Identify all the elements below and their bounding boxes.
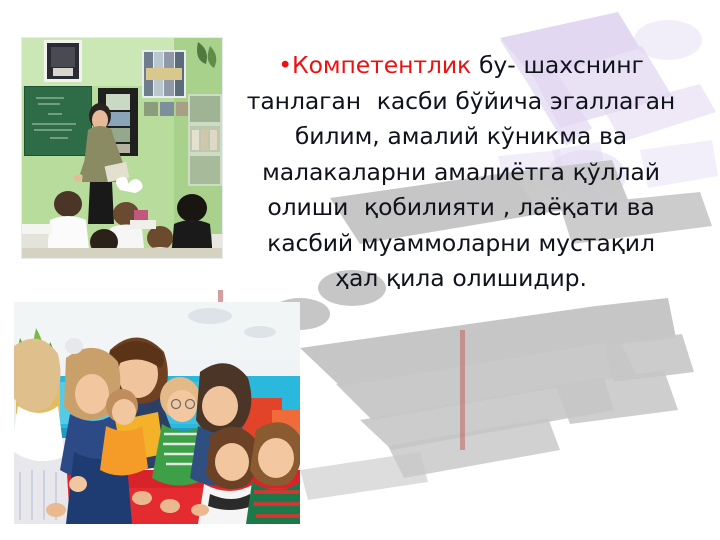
text-line-1: •Компетентлик бу- шахснинг bbox=[226, 48, 696, 84]
text-line-4: малакаларни амалиётга қўллай bbox=[226, 155, 696, 191]
text-line-1-rest: бу- шахснинг bbox=[471, 51, 644, 79]
text-line-6: касбий муаммоларни мустақил bbox=[226, 226, 696, 262]
highlighted-term: Компетентлик bbox=[292, 51, 471, 79]
text-line-7: ҳал қила олишидир. bbox=[226, 261, 696, 297]
text-line-3: билим, амалий кўникма ва bbox=[226, 119, 696, 155]
slide-body-text: •Компетентлик бу- шахснинг танлаган касб… bbox=[226, 48, 696, 297]
classroom-photo bbox=[22, 38, 222, 258]
kids-reading-photo bbox=[14, 302, 300, 524]
slide-canvas: •Компетентлик бу- шахснинг танлаган касб… bbox=[0, 0, 720, 540]
text-line-2: танлаган касби бўйича эгаллаган bbox=[226, 84, 696, 120]
bullet-glyph: • bbox=[278, 51, 292, 79]
text-line-5: олиши қобилияти , лаёқати ва bbox=[226, 190, 696, 226]
kids-reading-photo-graphic bbox=[14, 302, 300, 524]
classroom-photo-graphic bbox=[22, 38, 222, 258]
